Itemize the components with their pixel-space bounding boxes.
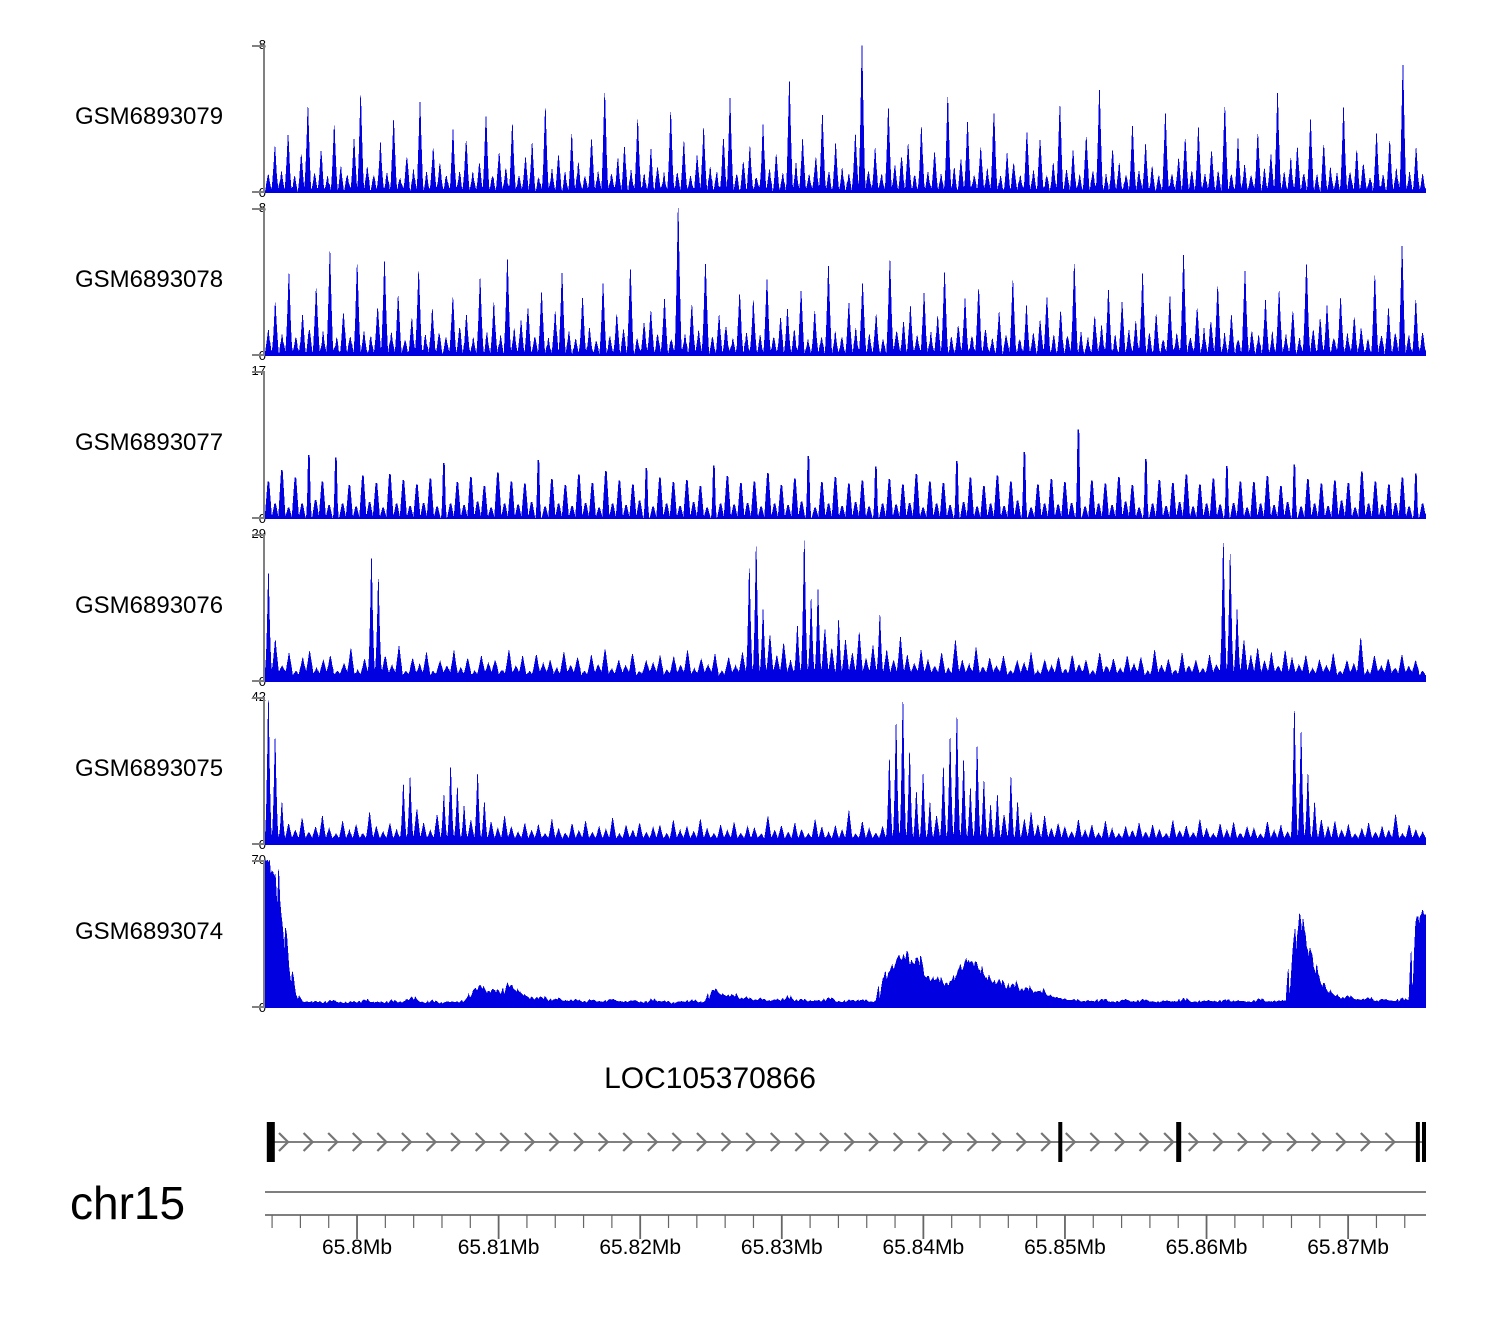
y-axis-tick-max [252, 697, 264, 699]
track-sample-label: GSM6893077 [75, 429, 275, 457]
y-axis-tick-max [252, 208, 264, 210]
y-axis-tick-min [252, 191, 264, 193]
track-sample-label: GSM6893078 [75, 266, 275, 294]
coverage-track[interactable]: GSM6893074700 [0, 846, 1500, 1022]
coverage-area-plot [265, 697, 1426, 845]
y-axis-tick-max [252, 371, 264, 373]
gene-model-track[interactable] [265, 1118, 1426, 1166]
gene-name-text: LOC105370866 [604, 1062, 816, 1096]
genome-browser-figure: GSM689307980GSM689307880GSM6893077170GSM… [0, 0, 1500, 1320]
gene-name-label: LOC105370866 [0, 1062, 1500, 1096]
ruler-tick-label: 65.85Mb [1024, 1236, 1106, 1260]
ruler-tick-label: 65.83Mb [741, 1236, 823, 1260]
ruler-tick-label: 65.81Mb [458, 1236, 540, 1260]
ruler-tick-label: 65.84Mb [882, 1236, 964, 1260]
coverage-track[interactable]: GSM6893076290 [0, 520, 1500, 696]
ruler-tick-label: 65.8Mb [322, 1236, 392, 1260]
coverage-area-plot [265, 208, 1426, 356]
track-sample-label: GSM6893079 [75, 103, 275, 131]
y-axis-tick-min [252, 680, 264, 682]
track-sample-label: GSM6893075 [75, 755, 275, 783]
y-axis-tick-min [252, 843, 264, 845]
coordinate-ruler[interactable]: 65.8Mb65.81Mb65.82Mb65.83Mb65.84Mb65.85M… [265, 1186, 1426, 1296]
track-sample-label: GSM6893074 [75, 918, 275, 946]
coverage-area-plot [265, 860, 1426, 1008]
y-axis-tick-max [252, 860, 264, 862]
y-axis-tick-max [252, 534, 264, 536]
coverage-area-plot [265, 371, 1426, 519]
ruler-tick-label: 65.87Mb [1307, 1236, 1389, 1260]
ruler-tick-label: 65.82Mb [599, 1236, 681, 1260]
track-sample-label: GSM6893076 [75, 592, 275, 620]
coverage-track[interactable]: GSM689307880 [0, 194, 1500, 370]
chromosome-label: chr15 [70, 1176, 185, 1230]
y-axis-tick-min [252, 354, 264, 356]
coverage-track[interactable]: GSM6893077170 [0, 357, 1500, 533]
y-axis-tick-min [252, 517, 264, 519]
coverage-area-plot [265, 45, 1426, 193]
y-axis-tick-min [252, 1006, 264, 1008]
coverage-area-plot [265, 534, 1426, 682]
coverage-track[interactable]: GSM689307980 [0, 31, 1500, 207]
y-axis-tick-max [252, 45, 264, 47]
ruler-tick-label: 65.86Mb [1166, 1236, 1248, 1260]
coverage-track[interactable]: GSM6893075420 [0, 683, 1500, 859]
